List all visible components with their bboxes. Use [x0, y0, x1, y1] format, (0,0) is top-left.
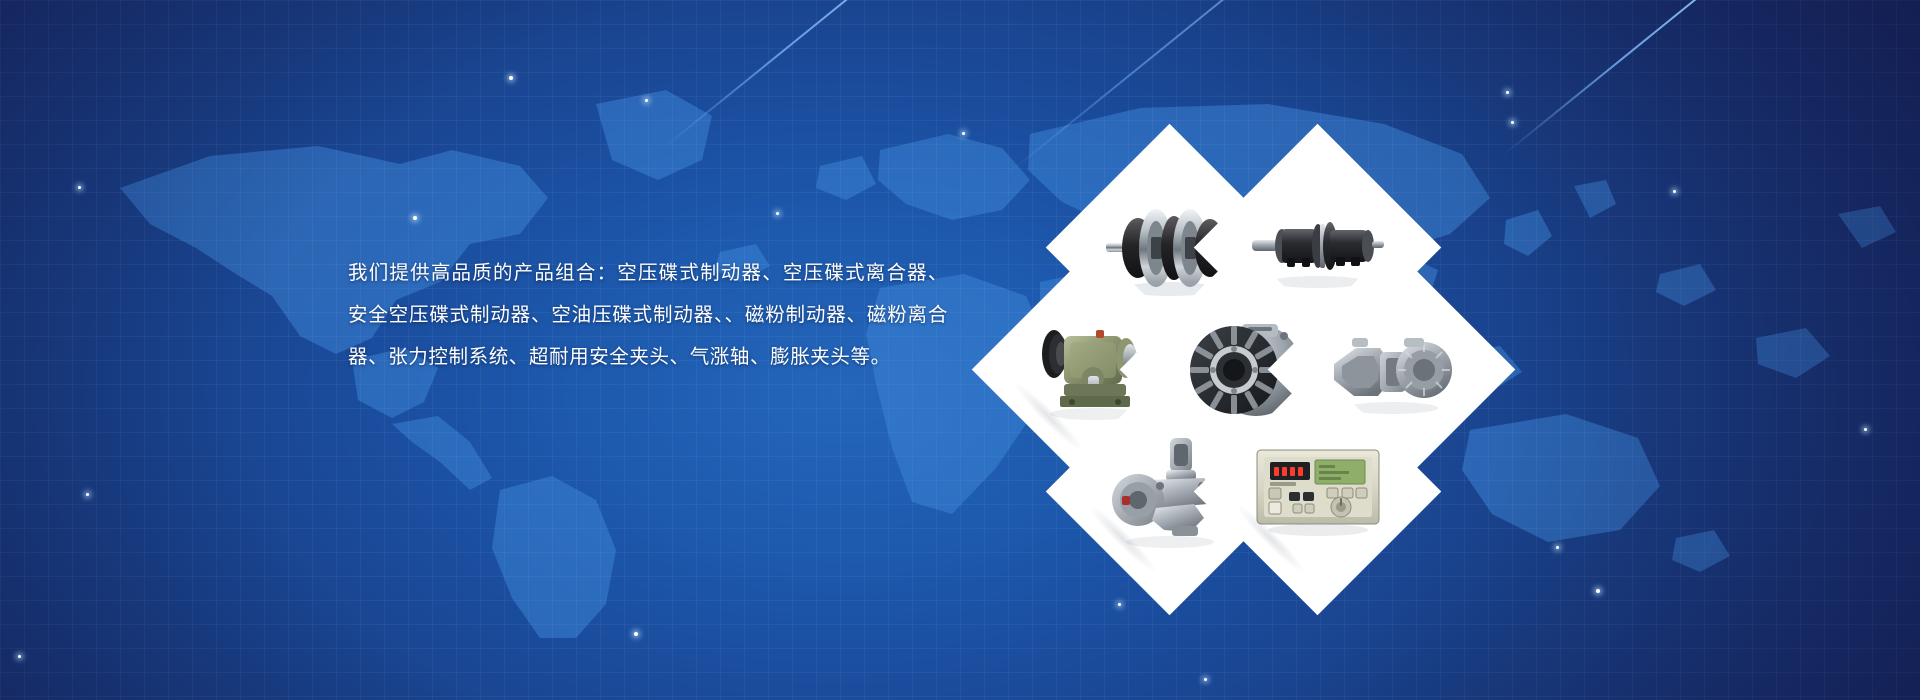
sparkle-star-icon [1864, 428, 1867, 431]
sparkle-star-icon [1118, 603, 1121, 606]
sparkle-star-icon [1673, 190, 1676, 193]
product-diamond-grid [1020, 150, 1480, 570]
description-text: 我们提供高品质的产品组合：空压碟式制动器、空压碟式离合器、安全空压碟式制动器、空… [348, 252, 948, 378]
sparkle-star-icon [1204, 678, 1207, 681]
sparkle-star-icon [413, 216, 417, 220]
sparkle-star-icon [18, 655, 21, 658]
sparkle-star-icon [634, 632, 638, 636]
sparkle-star-icon [1506, 91, 1509, 94]
sparkle-star-icon [1596, 589, 1600, 593]
sparkle-star-icon [509, 76, 513, 80]
sparkle-star-icon [962, 132, 965, 135]
sparkle-star-icon [1556, 546, 1559, 549]
tension-controller-icon [1253, 446, 1383, 538]
sparkle-star-icon [78, 186, 81, 189]
product-hero-banner: 我们提供高品质的产品组合：空压碟式制动器、空压碟式离合器、安全空压碟式制动器、空… [0, 0, 1920, 700]
sparkle-star-icon [1511, 121, 1514, 124]
banner-description: 我们提供高品质的产品组合：空压碟式制动器、空压碟式离合器、安全空压碟式制动器、空… [348, 252, 948, 378]
sparkle-stars [0, 0, 1920, 700]
sparkle-star-icon [776, 212, 779, 215]
sparkle-star-icon [86, 493, 89, 496]
sparkle-star-icon [645, 99, 648, 102]
